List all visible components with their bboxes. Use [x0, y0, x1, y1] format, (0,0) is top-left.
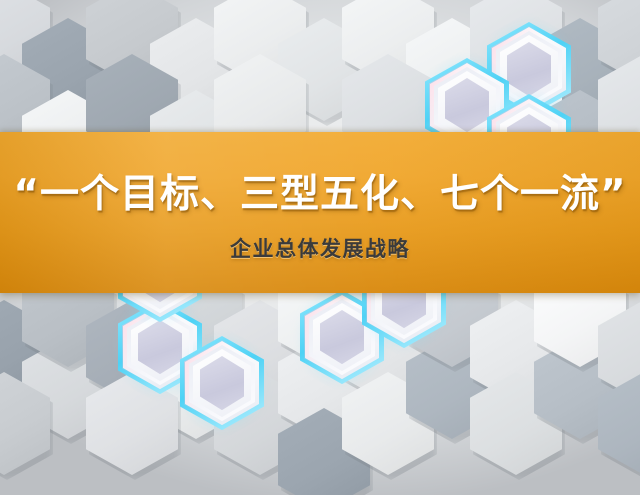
- glowing-hexagon: [180, 336, 264, 430]
- presentation-slide: “一个目标、三型五化、七个一流” 企业总体发展战略: [0, 0, 640, 495]
- page-subtitle: 企业总体发展战略: [230, 233, 410, 263]
- title-banner: “一个目标、三型五化、七个一流” 企业总体发展战略: [0, 132, 640, 293]
- page-title: “一个目标、三型五化、七个一流”: [13, 163, 626, 219]
